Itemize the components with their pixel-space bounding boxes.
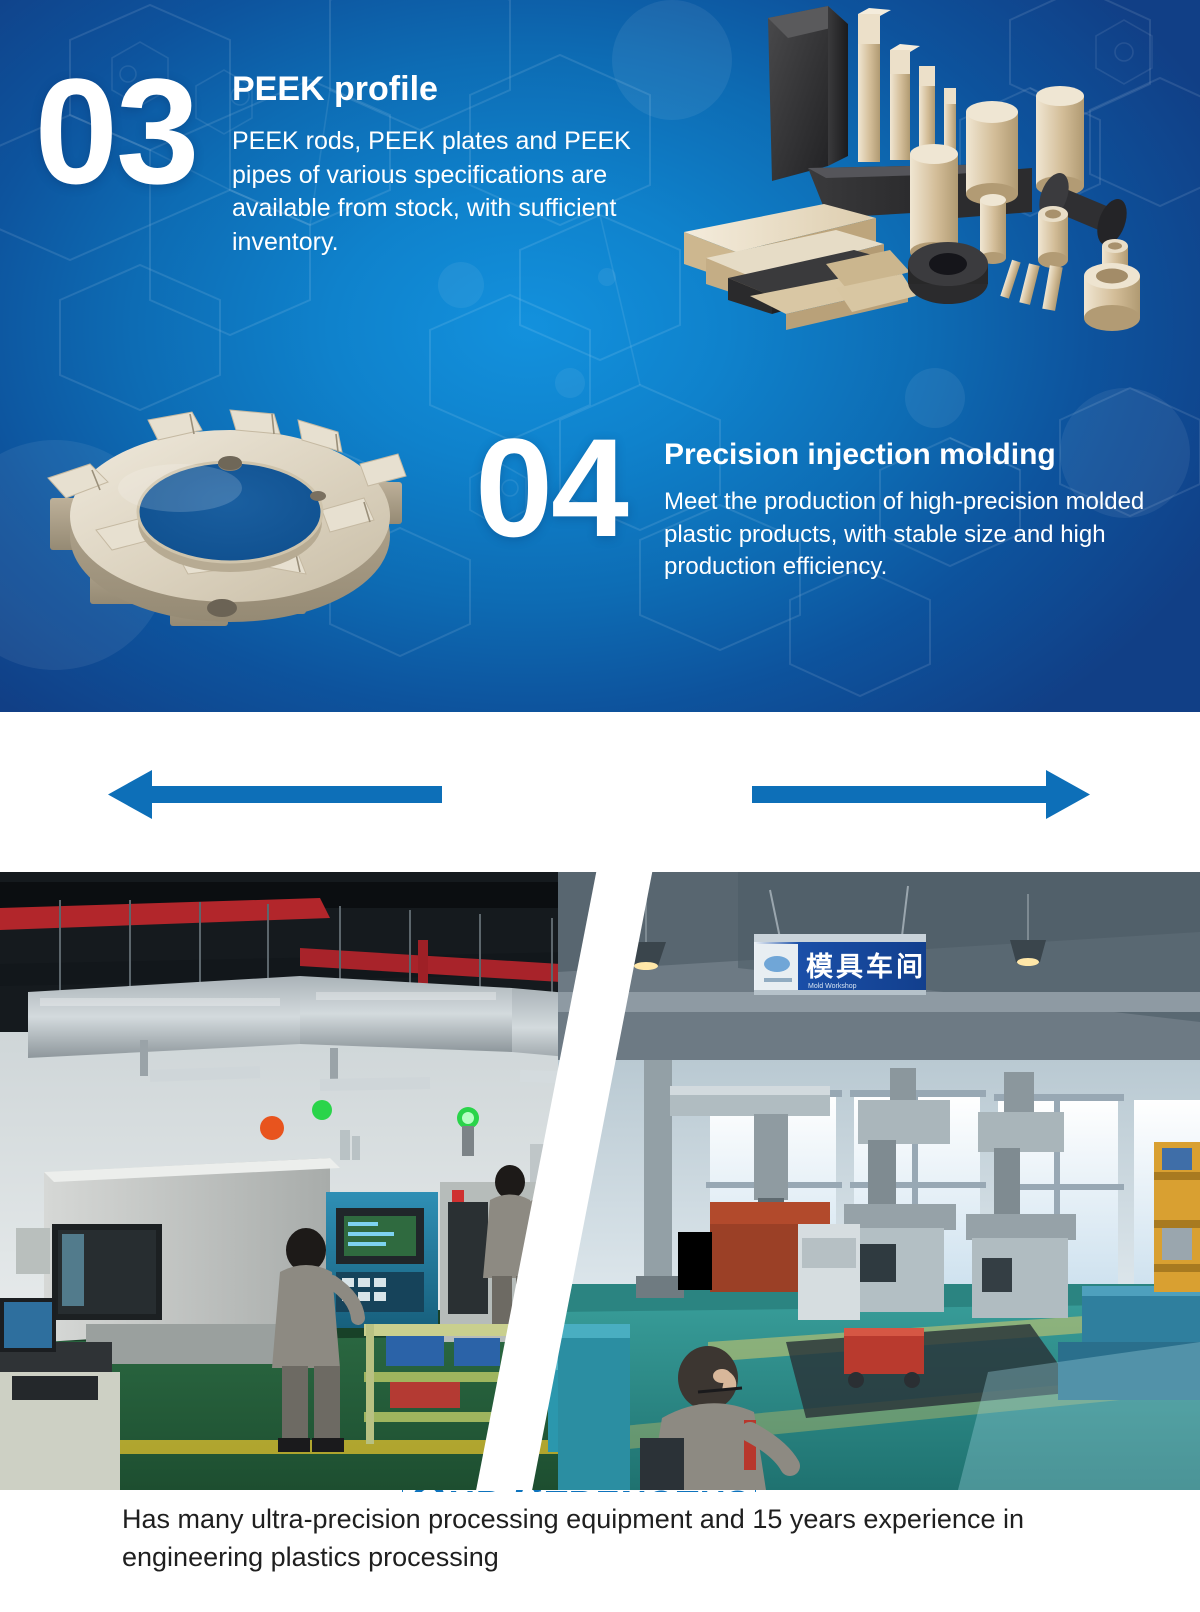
decorative-circle [438, 262, 484, 308]
svg-text:模具车间: 模具车间 [806, 951, 926, 983]
decorative-circle [555, 368, 585, 398]
feature-text-04: Precision injection molding Meet the pro… [664, 424, 1154, 584]
decorative-circle [905, 368, 965, 428]
double-arrow-graphic [0, 712, 1200, 872]
feature-body-03: PEEK rods, PEEK plates and PEEK pipes of… [232, 125, 662, 259]
product-feature-page: 03 PEEK profile PEEK rods, PEEK plates a… [0, 0, 1200, 1612]
factory-photo-strip: 模具车间 Mold Workshop [0, 872, 1200, 1490]
feature-text-03: PEEK profile PEEK rods, PEEK plates and … [232, 62, 662, 259]
peek-stock-shapes-photo [676, 0, 1176, 341]
feature-number-03: 03 [16, 62, 216, 200]
peek-machined-ring-photo [30, 378, 430, 668]
feature-title-03: PEEK profile [232, 70, 662, 109]
arrow-right-icon [752, 770, 1090, 819]
section-divider-banner: OUR STRENGTHS [0, 712, 1200, 872]
svg-text:Mold Workshop: Mold Workshop [808, 983, 857, 990]
feature-number-04: 04 [452, 424, 650, 553]
mold-workshop-photo: 模具车间 Mold Workshop [558, 872, 1200, 1490]
arrow-left-icon [108, 770, 442, 819]
decorative-circle [598, 268, 616, 286]
feature-block-03: 03 PEEK profile PEEK rods, PEEK plates a… [16, 62, 662, 259]
hero-section: 03 PEEK profile PEEK rods, PEEK plates a… [0, 0, 1200, 712]
feature-block-04: 04 Precision injection molding Meet the … [452, 424, 1154, 584]
feature-title-04: Precision injection molding [664, 438, 1154, 472]
caption-text: Has many ultra-precision processing equi… [122, 1500, 1090, 1577]
caption-section: Has many ultra-precision processing equi… [0, 1492, 1200, 1612]
feature-body-04: Meet the production of high-precision mo… [664, 486, 1154, 584]
